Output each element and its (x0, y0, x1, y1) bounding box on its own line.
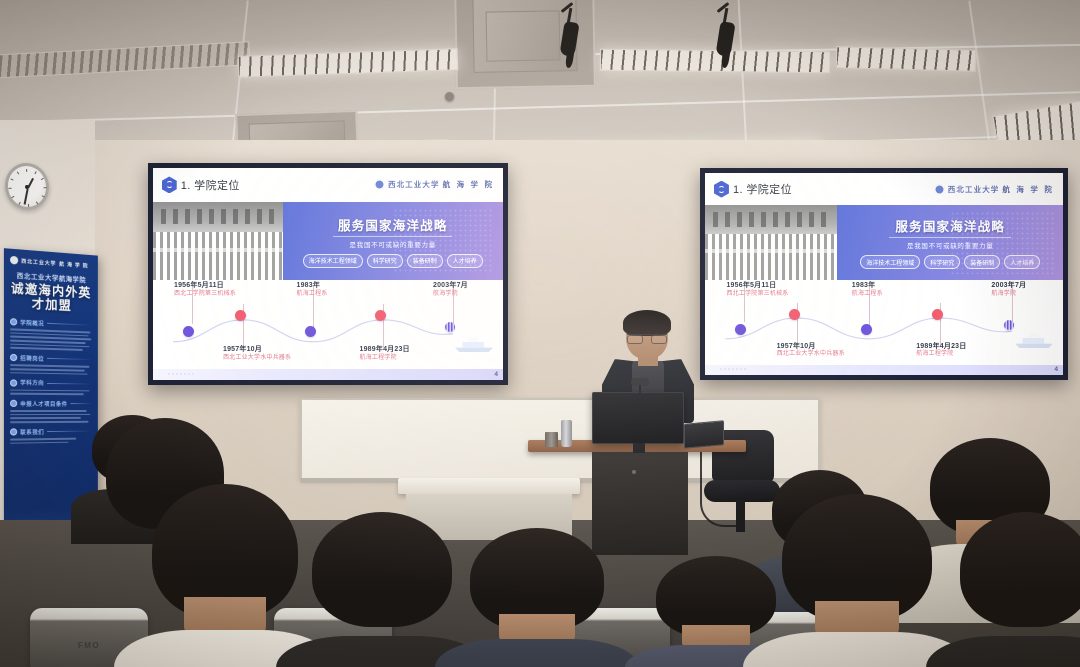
eyeglasses (627, 334, 667, 341)
thermos-bottle (561, 420, 572, 447)
banner-tag: 海洋技术工程领域 (303, 254, 363, 268)
ceiling-light (836, 46, 977, 72)
hexagon-icon (714, 181, 729, 198)
school-name: 航 海 学 院 (443, 179, 495, 190)
poster-section: 招聘岗位 (10, 354, 92, 375)
university-name: 西北工业大学 (948, 184, 1000, 195)
pen-holder (545, 432, 558, 447)
timeline-marker (1004, 320, 1014, 330)
slide-page-number: 4 (494, 371, 498, 378)
university-emblem-icon (374, 179, 385, 190)
timeline-entry: 1989年4月23日 航海工程学院 (360, 346, 410, 363)
university-logo: 西北工业大学 航 海 学 院 (934, 184, 1054, 195)
audience-member (470, 528, 604, 667)
timeline-marker (861, 324, 872, 335)
university-logo: 西北工业大学 航 海 学 院 (374, 179, 494, 190)
slide-header: 1. 学院定位 西北工业大学 航 海 学 院 (705, 173, 1063, 205)
slide-right: 1. 学院定位 西北工业大学 航 海 学 院 服务国家海洋战略 是我国不可或缺的… (705, 173, 1063, 375)
banner-subtitle: 是我国不可或缺的重要力量 (350, 239, 436, 249)
poster-section: 申报人才项目条件 (10, 400, 92, 423)
ceiling-light (238, 48, 459, 78)
microphone (631, 378, 649, 386)
poster-section-label: 申报人才项目条件 (20, 400, 67, 408)
slide-title: 1. 学院定位 (733, 181, 792, 197)
history-timeline: 1956年5月11日 西北工学院第三机械系 1957年10月 西北工业大学水中兵… (153, 280, 503, 380)
ship-illustration (1012, 330, 1056, 350)
poster-section: 联系我们 (10, 427, 92, 444)
timeline-entry: 1983年 航海工程系 (852, 282, 883, 299)
timeline-entry: 1989年4月23日 航海工程学院 (916, 343, 966, 360)
banner-tag: 人才培养 (447, 254, 483, 268)
strategy-banner: 服务国家海洋战略 是我国不可或缺的重要力量 海洋技术工程领域 科学研究 装备研制… (837, 205, 1063, 280)
banner-tag: 装备研制 (407, 254, 443, 268)
banner-tag-row: 海洋技术工程领域 科学研究 装备研制 人才培养 (860, 255, 1040, 269)
banner-title: 服务国家海洋战略 (895, 216, 1005, 235)
secondary-monitor (684, 420, 724, 448)
slide-title: 1. 学院定位 (181, 177, 240, 193)
poster-section-label: 学科方向 (20, 379, 44, 387)
banner-tag: 科学研究 (924, 255, 960, 269)
university-name: 西北工业大学 (388, 179, 440, 190)
timeline-entry: 1983年 航海工程系 (297, 282, 328, 299)
audience-member (782, 494, 932, 667)
poster-section-label: 学院概况 (20, 318, 44, 327)
lecture-hall-scene: 1. 学院定位 西北工业大学 航 海 学 院 服务国家海洋战略 是我国不可或缺的… (0, 0, 1080, 667)
timeline-marker (932, 309, 943, 320)
slide-left: 1. 学院定位 西北工业大学 航 海 学 院 服务国家海洋战略 是我国不可或缺的… (153, 168, 503, 380)
projection-screen-left: 1. 学院定位 西北工业大学 航 海 学 院 服务国家海洋战略 是我国不可或缺的… (148, 163, 508, 385)
historical-group-photo (705, 205, 837, 280)
timeline-marker (789, 309, 800, 320)
banner-divider (889, 237, 1011, 238)
timeline-entry: 2003年7月 航海学院 (991, 282, 1026, 299)
timeline-entry: 1957年10月 西北工业大学水中兵器系 (777, 343, 845, 360)
clock-minute-hand (24, 188, 29, 204)
poster-logo: 西北工业大学 航 海 学 院 (10, 256, 92, 270)
cables (700, 447, 742, 527)
timeline-entry: 1956年5月11日 西北工学院第三机械系 (174, 282, 236, 299)
slide-banner: 服务国家海洋战略 是我国不可或缺的重要力量 海洋技术工程领域 科学研究 装备研制… (705, 205, 1063, 280)
banner-title: 服务国家海洋战略 (338, 215, 448, 234)
banner-tag: 科学研究 (367, 254, 403, 268)
slide-page-number: 4 (1054, 366, 1058, 373)
audience-member (152, 484, 298, 667)
timeline-entry: 1956年5月11日 西北工学院第三机械系 (726, 282, 788, 299)
banner-tag: 装备研制 (964, 255, 1000, 269)
projection-screen-right: 1. 学院定位 西北工业大学 航 海 学 院 服务国家海洋战略 是我国不可或缺的… (700, 168, 1068, 380)
ship-illustration (452, 334, 496, 354)
sprinkler-head (445, 92, 454, 101)
poster-section: 学院概况 (10, 318, 92, 351)
timeline-entry: 2003年7月 航海学院 (433, 282, 468, 299)
poster-section-label: 招聘岗位 (20, 354, 44, 363)
slide-header: 1. 学院定位 西北工业大学 航 海 学 院 (153, 168, 503, 202)
slide-banner: 服务国家海洋战略 是我国不可或缺的重要力量 海洋技术工程领域 科学研究 装备研制… (153, 202, 503, 280)
timeline-entry: 1957年10月 西北工业大学水中兵器系 (223, 346, 291, 363)
banner-tag: 人才培养 (1004, 255, 1040, 269)
timeline-marker (183, 326, 194, 337)
audience-member (312, 512, 452, 667)
audience-member (960, 512, 1080, 667)
banner-tag: 海洋技术工程领域 (860, 255, 920, 269)
banner-tag-row: 海洋技术工程领域 科学研究 装备研制 人才培养 (303, 254, 483, 268)
hexagon-icon (162, 176, 177, 193)
historical-group-photo (153, 202, 283, 280)
strategy-banner: 服务国家海洋战略 是我国不可或缺的重要力量 海洋技术工程领域 科学研究 装备研制… (283, 202, 504, 280)
poster-school-name: 航 海 学 院 (59, 260, 88, 269)
university-emblem-icon (934, 184, 945, 195)
slide-footer: 4 (153, 369, 503, 380)
ceiling-vent (0, 41, 250, 79)
history-timeline: 1956年5月11日 西北工学院第三机械系 1957年10月 西北工业大学水中兵… (705, 280, 1063, 375)
banner-divider (333, 236, 452, 237)
banner-subtitle: 是我国不可或缺的重要力量 (907, 240, 993, 250)
school-name: 航 海 学 院 (1002, 184, 1054, 195)
poster-university-name: 西北工业大学 (21, 257, 56, 267)
poster-title: 诚邀海内外英才加盟 (10, 281, 92, 314)
university-emblem-icon (10, 256, 18, 265)
ceiling-light (600, 49, 830, 73)
poster-section-label: 联系我们 (20, 428, 44, 436)
slide-footer: 4 (705, 365, 1063, 375)
poster-section: 学科方向 (10, 378, 92, 395)
presenter-monitor (592, 392, 684, 444)
